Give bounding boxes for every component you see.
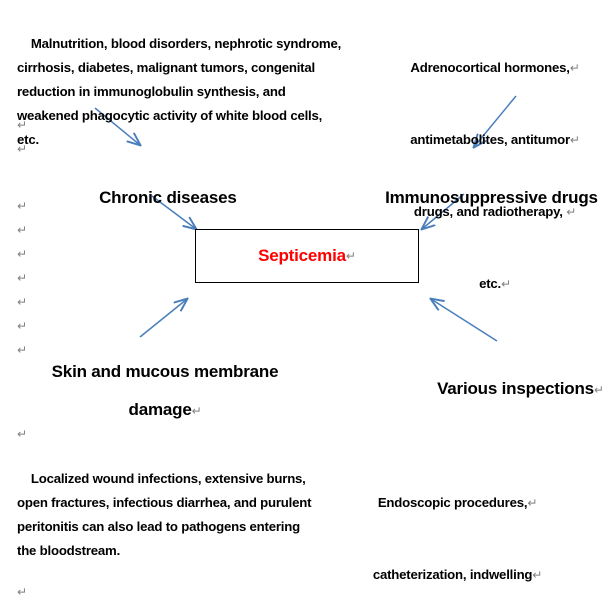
various-inspections-description: Endoscopic procedures,↵ catheterization,… xyxy=(330,443,585,603)
pilcrow-icon: ↵ xyxy=(17,200,27,212)
heading-skin-damage-line2: damage xyxy=(129,400,192,419)
heading-skin-damage: Skin and mucous membrane damage↵ xyxy=(50,353,280,430)
pilcrow-icon: ↵ xyxy=(17,224,27,236)
skin-damage-to-box-arrow xyxy=(140,299,187,337)
skin-damage-description: Localized wound infections, extensive bu… xyxy=(17,443,317,587)
septicemia-label: Septicemia xyxy=(258,246,346,266)
septicemia-box: Septicemia↵ xyxy=(195,229,419,283)
heading-immunosuppressive-drugs: Immunosuppressive drugs xyxy=(367,162,598,234)
pilcrow-icon: ↵ xyxy=(17,248,27,260)
pilcrow-icon: ↵ xyxy=(594,383,603,397)
line-text: antimetabolites, antitumor xyxy=(410,132,570,147)
pilcrow-icon: ↵ xyxy=(17,344,27,356)
immunosuppressive-description-line: antimetabolites, antitumor↵ xyxy=(395,128,595,152)
pilcrow-icon: ↵ xyxy=(17,320,27,332)
heading-various-inspections: Various inspections↵ xyxy=(419,353,603,426)
pilcrow-icon: ↵ xyxy=(17,272,27,284)
pilcrow-icon: ↵ xyxy=(346,249,356,263)
various-inspections-description-line: Endoscopic procedures,↵ xyxy=(330,491,585,515)
pilcrow-icon: ↵ xyxy=(17,119,27,131)
heading-skin-damage-line2-wrap: damage↵ xyxy=(50,391,280,430)
various-inspections-description-line: catheterization, indwelling↵ xyxy=(330,563,585,587)
heading-chronic-diseases-label: Chronic diseases xyxy=(99,188,237,207)
pilcrow-icon: ↵ xyxy=(501,277,511,291)
line-text: etc. xyxy=(479,276,501,291)
pilcrow-icon: ↵ xyxy=(17,296,27,308)
chronic-diseases-description: Malnutrition, blood disorders, nephrotic… xyxy=(17,8,347,176)
heading-immunosuppressive-drugs-label: Immunosuppressive drugs xyxy=(385,188,598,207)
line-text: Endoscopic procedures, xyxy=(378,495,528,510)
pilcrow-icon: ↵ xyxy=(570,133,580,147)
pilcrow-icon: ↵ xyxy=(532,568,542,582)
heading-skin-damage-line1: Skin and mucous membrane xyxy=(50,353,280,391)
heading-chronic-diseases: Chronic diseases xyxy=(81,162,237,234)
pilcrow-icon: ↵ xyxy=(17,428,27,440)
pilcrow-icon: ↵ xyxy=(17,586,27,598)
line-text: Adrenocortical hormones, xyxy=(410,60,569,75)
heading-various-inspections-label: Various inspections xyxy=(437,379,594,398)
pilcrow-icon: ↵ xyxy=(17,143,27,155)
document-page: Malnutrition, blood disorders, nephrotic… xyxy=(0,0,603,603)
pilcrow-icon: ↵ xyxy=(192,404,202,418)
line-text: catheterization, indwelling xyxy=(373,567,532,582)
pilcrow-icon: ↵ xyxy=(527,496,537,510)
pilcrow-icon: ↵ xyxy=(570,61,580,75)
immunosuppressive-description-line: etc.↵ xyxy=(395,272,595,296)
skin-damage-description-text: Localized wound infections, extensive bu… xyxy=(17,471,315,558)
chronic-diseases-description-text: Malnutrition, blood disorders, nephrotic… xyxy=(17,36,345,147)
immunosuppressive-description-line: Adrenocortical hormones,↵ xyxy=(395,56,595,80)
